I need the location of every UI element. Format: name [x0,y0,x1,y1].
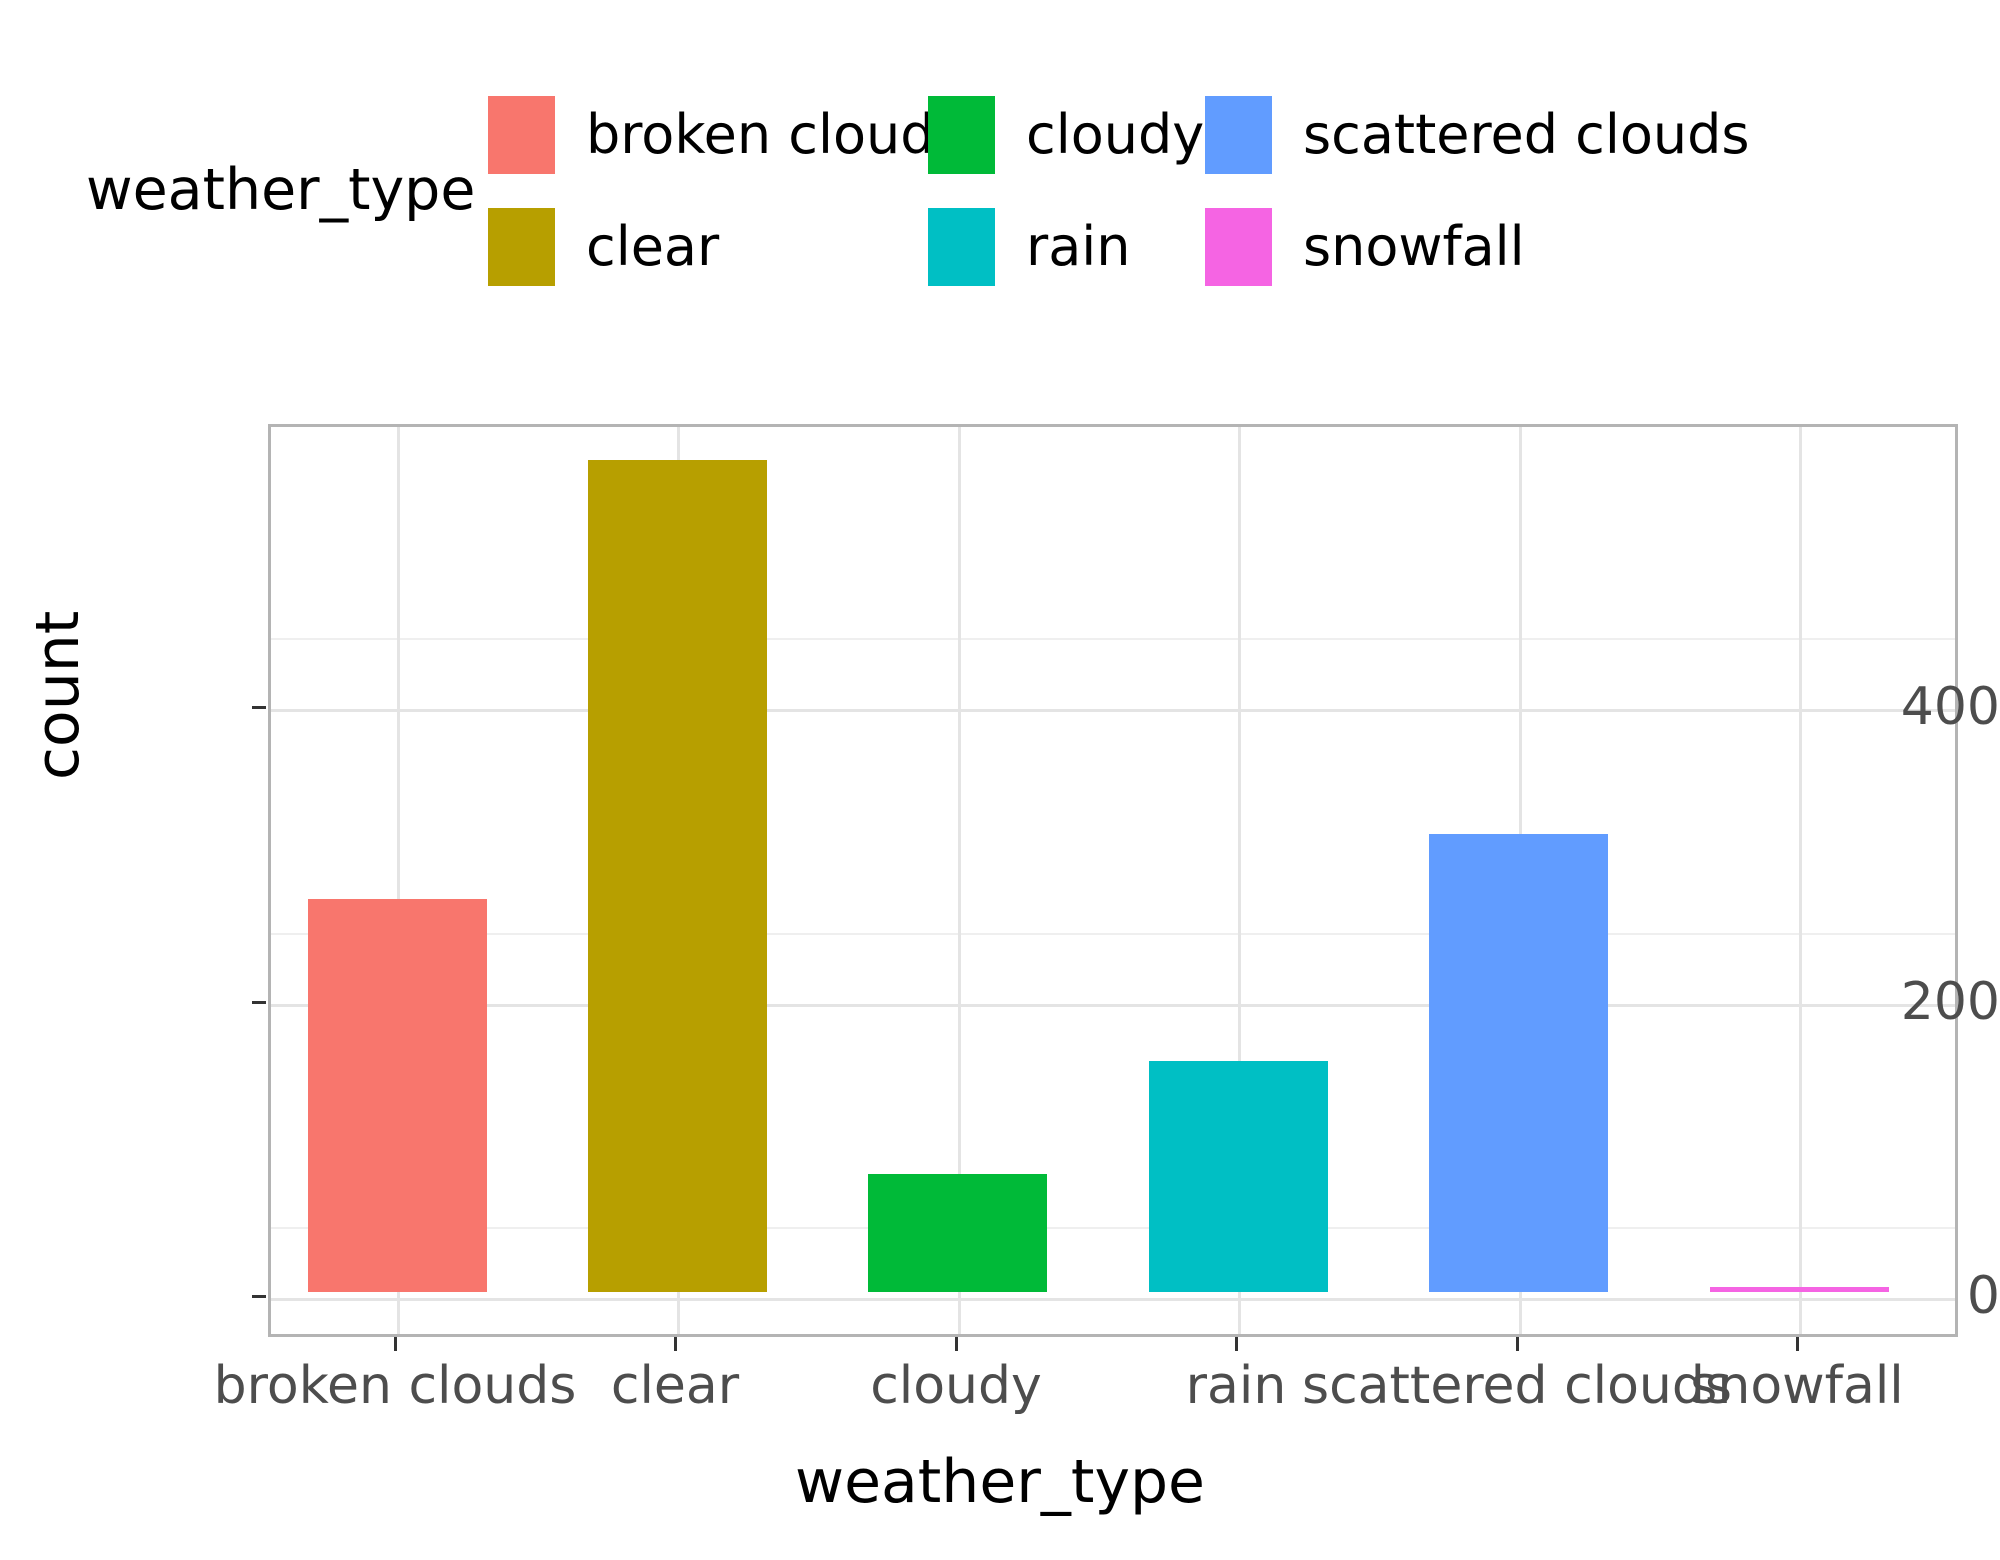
xtick-label-snowfall: snowfall [1497,1360,2000,1412]
ytick-mark-400 [252,706,266,709]
plot-area: 0 200 400 broken clouds clear cloudy rai… [0,0,2000,1560]
gridline-minor-500 [271,638,1955,640]
gridline-major-0 [271,1298,1955,1301]
ytick-mark-200 [252,1001,266,1004]
bar-rain[interactable] [1149,1061,1328,1292]
bar-broken-clouds[interactable] [308,899,487,1292]
xtick-mark-rain [1235,1337,1238,1351]
ytick-label-0: 0 [1772,1270,2000,1322]
xtick-mark-cloudy [955,1337,958,1351]
bar-scattered-clouds[interactable] [1429,834,1608,1292]
bar-clear[interactable] [588,460,767,1292]
gridline-major-400 [271,709,1955,712]
gridline-major-200 [271,1004,1955,1007]
xtick-mark-snowfall [1796,1337,1799,1351]
ytick-label-400: 400 [1772,681,2000,733]
panel [268,424,1958,1337]
bar-cloudy[interactable] [868,1174,1047,1292]
gridline-minor-300 [271,933,1955,935]
y-axis-title: count [28,611,88,780]
gridline-minor-100 [271,1227,1955,1229]
xtick-mark-clear [674,1337,677,1351]
gridline-vertical-snowfall [1799,427,1802,1334]
ytick-label-200: 200 [1772,976,2000,1028]
ytick-mark-0 [252,1295,266,1298]
chart-root: weather_type broken clouds cloudy scatte… [0,0,2000,1560]
xtick-mark-scattered-clouds [1516,1337,1519,1351]
xtick-mark-broken-clouds [394,1337,397,1351]
x-axis-title: weather_type [0,1452,2000,1512]
